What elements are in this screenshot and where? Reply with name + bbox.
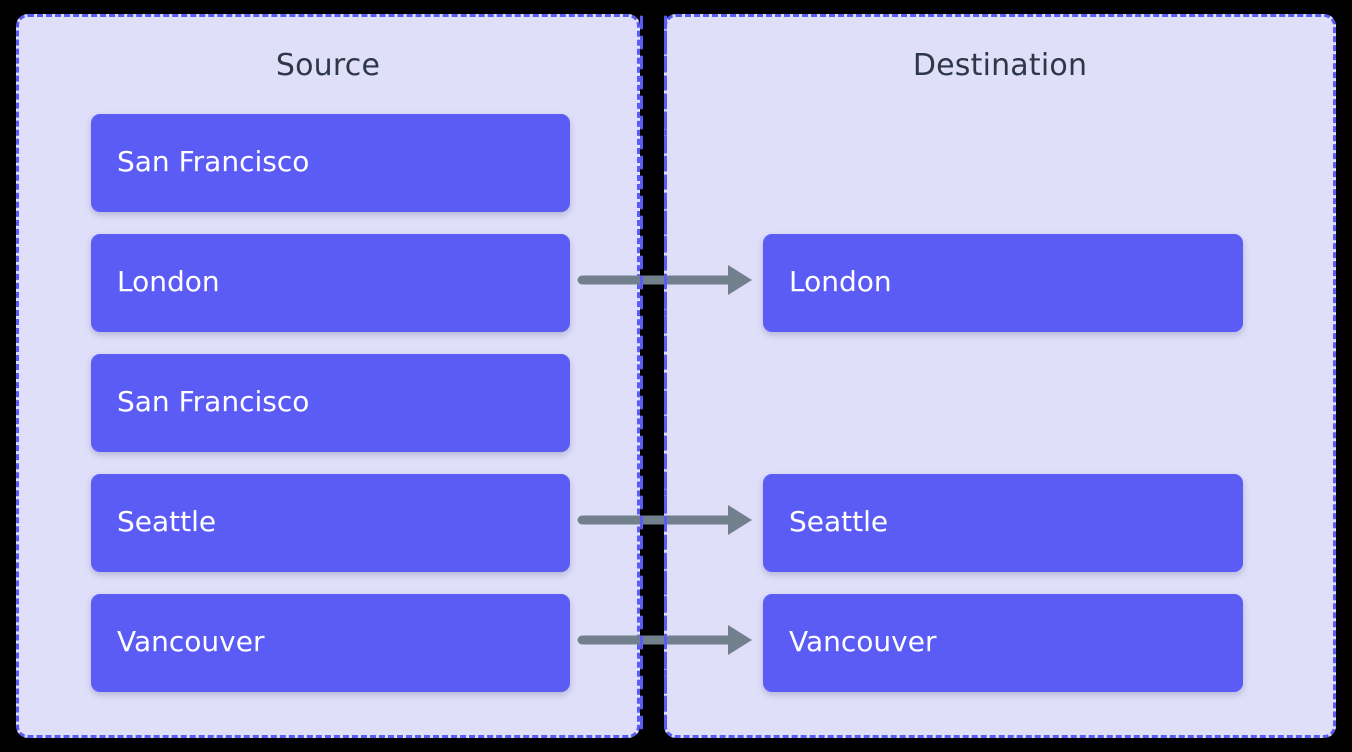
source-item-label-4: Seattle xyxy=(91,506,216,538)
source-item-box-4[interactable]: Seattle xyxy=(91,474,570,572)
source-item-label-1: San Francisco xyxy=(91,146,309,178)
destination-item-slot-1-empty xyxy=(763,114,1243,212)
destination-item-box-4[interactable]: Seattle xyxy=(763,474,1243,572)
destination-panel: Destination London Seattle Vancouver xyxy=(664,14,1336,738)
source-item-box-3[interactable]: San Francisco xyxy=(91,354,570,452)
destination-item-box-2[interactable]: London xyxy=(763,234,1243,332)
diagram-canvas: Source San Francisco London San Francisc… xyxy=(0,0,1352,752)
source-item-label-5: Vancouver xyxy=(91,626,264,658)
source-item-box-2[interactable]: London xyxy=(91,234,570,332)
source-item-box-5[interactable]: Vancouver xyxy=(91,594,570,692)
source-item-list: San Francisco London San Francisco Seatt… xyxy=(19,17,637,735)
destination-item-list: London Seattle Vancouver xyxy=(667,17,1333,735)
destination-item-box-5[interactable]: Vancouver xyxy=(763,594,1243,692)
destination-item-label-2: London xyxy=(763,266,892,298)
source-item-label-2: London xyxy=(91,266,220,298)
source-item-label-3: San Francisco xyxy=(91,386,309,418)
destination-item-slot-3-empty xyxy=(763,354,1243,452)
destination-item-label-5: Vancouver xyxy=(763,626,936,658)
panel-gutter xyxy=(640,0,664,752)
source-panel: Source San Francisco London San Francisc… xyxy=(16,14,640,738)
destination-item-label-4: Seattle xyxy=(763,506,888,538)
source-item-box-1[interactable]: San Francisco xyxy=(91,114,570,212)
